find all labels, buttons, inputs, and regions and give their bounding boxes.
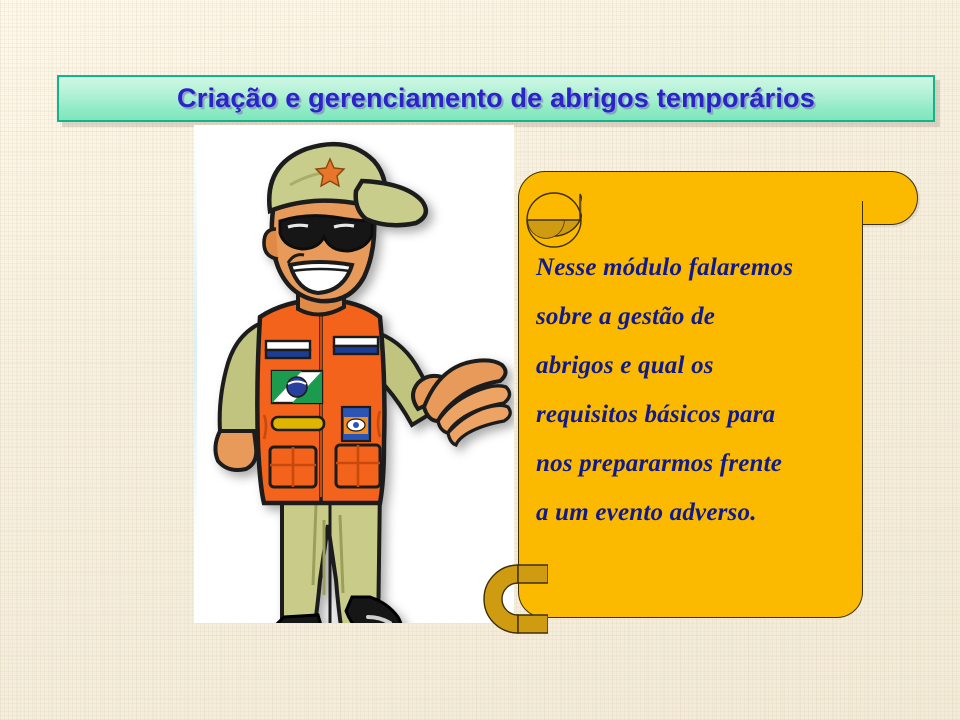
scroll-line: a um evento adverso. xyxy=(536,488,866,537)
slide-title-banner: Criação e gerenciamento de abrigos tempo… xyxy=(57,75,935,122)
civil-defense-badge xyxy=(342,407,370,441)
parchment-scroll: Nesse módulo falaremos sobre a gestão de… xyxy=(448,168,928,628)
scroll-text-block: Nesse módulo falaremos sobre a gestão de… xyxy=(536,243,866,537)
scroll-curl-top-icon xyxy=(524,190,582,248)
scroll-line: sobre a gestão de xyxy=(536,292,866,341)
page-title: Criação e gerenciamento de abrigos tempo… xyxy=(177,83,815,114)
scroll-line: requisitos básicos para xyxy=(536,390,866,439)
slide-canvas: Criação e gerenciamento de abrigos tempo… xyxy=(0,0,960,720)
scroll-line: nos prepararmos frente xyxy=(536,439,866,488)
parana-flag-patch xyxy=(272,371,322,403)
scroll-line: abrigos e qual os xyxy=(536,341,866,390)
scroll-curl-bottom-icon xyxy=(456,553,548,641)
scroll-line: Nesse módulo falaremos xyxy=(536,243,866,292)
